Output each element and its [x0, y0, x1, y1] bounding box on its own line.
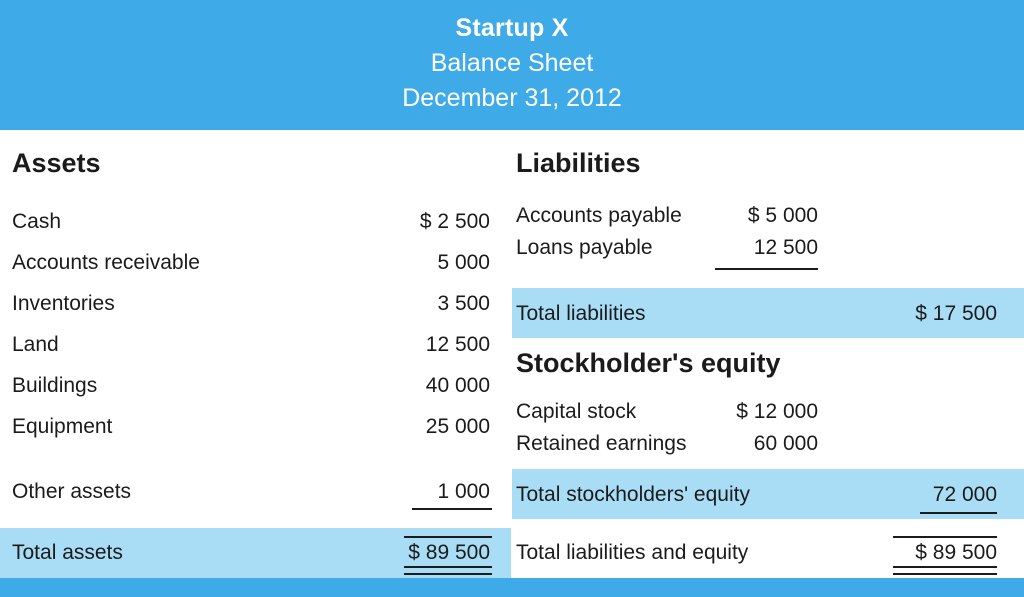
liability-row-amount-loans-payable: 12 500 [660, 236, 818, 260]
total-assets-overline [404, 536, 492, 538]
asset-row-label-equipment: Equipment [12, 415, 112, 439]
asset-row-label-cash: Cash [12, 210, 61, 234]
asset-row-amount-buildings: 40 000 [330, 374, 490, 398]
liabilities-subtotal-rule [715, 268, 818, 270]
report-date: December 31, 2012 [0, 84, 1024, 113]
liabilities-heading: Liabilities [516, 148, 641, 179]
total-liabilities-and-equity-amount: $ 89 500 [820, 541, 997, 565]
asset-row-label-land: Land [12, 333, 59, 357]
total-liabilities-and-equity-label: Total liabilities and equity [516, 541, 748, 565]
total-equity-amount: 72 000 [820, 483, 997, 507]
asset-row-amount-accounts-receivable: 5 000 [330, 251, 490, 275]
asset-row-amount-equipment: 25 000 [330, 415, 490, 439]
asset-row-label-other-assets: Other assets [12, 480, 131, 504]
asset-row-amount-other-assets: 1 000 [330, 480, 490, 504]
liability-row-amount-accounts-payable: $ 5 000 [660, 204, 818, 228]
company-name: Startup X [0, 14, 1024, 43]
asset-row-amount-inventories: 3 500 [330, 292, 490, 316]
equity-heading: Stockholder's equity [516, 348, 780, 379]
other-assets-subtotal-rule [412, 508, 492, 510]
assets-heading: Assets [12, 148, 101, 179]
asset-row-amount-land: 12 500 [330, 333, 490, 357]
total-equity-label: Total stockholders' equity [516, 483, 750, 507]
total-assets-label: Total assets [12, 541, 123, 565]
total-liabilities-and-equity-overline [893, 536, 997, 538]
total-equity-underline [920, 512, 997, 514]
asset-row-amount-cash: $ 2 500 [330, 210, 490, 234]
asset-row-label-accounts-receivable: Accounts receivable [12, 251, 200, 275]
total-assets-double-underline [404, 566, 492, 575]
equity-row-label-capital-stock: Capital stock [516, 400, 636, 424]
asset-row-label-inventories: Inventories [12, 292, 115, 316]
liability-row-label-loans-payable: Loans payable [516, 236, 653, 260]
liability-row-label-accounts-payable: Accounts payable [516, 204, 682, 228]
total-assets-amount: $ 89 500 [330, 541, 490, 565]
sheet-header: Startup X Balance Sheet December 31, 201… [0, 0, 1024, 130]
total-liabilities-amount: $ 17 500 [820, 302, 997, 326]
equity-row-amount-capital-stock: $ 12 000 [660, 400, 818, 424]
equity-row-amount-retained-earnings: 60 000 [660, 432, 818, 456]
balance-sheet-page: Startup X Balance Sheet December 31, 201… [0, 0, 1024, 597]
sheet-footer-bar [0, 578, 1024, 597]
document-title: Balance Sheet [0, 49, 1024, 78]
asset-row-label-buildings: Buildings [12, 374, 97, 398]
total-liabilities-and-equity-double-underline [893, 566, 997, 575]
total-liabilities-label: Total liabilities [516, 302, 646, 326]
